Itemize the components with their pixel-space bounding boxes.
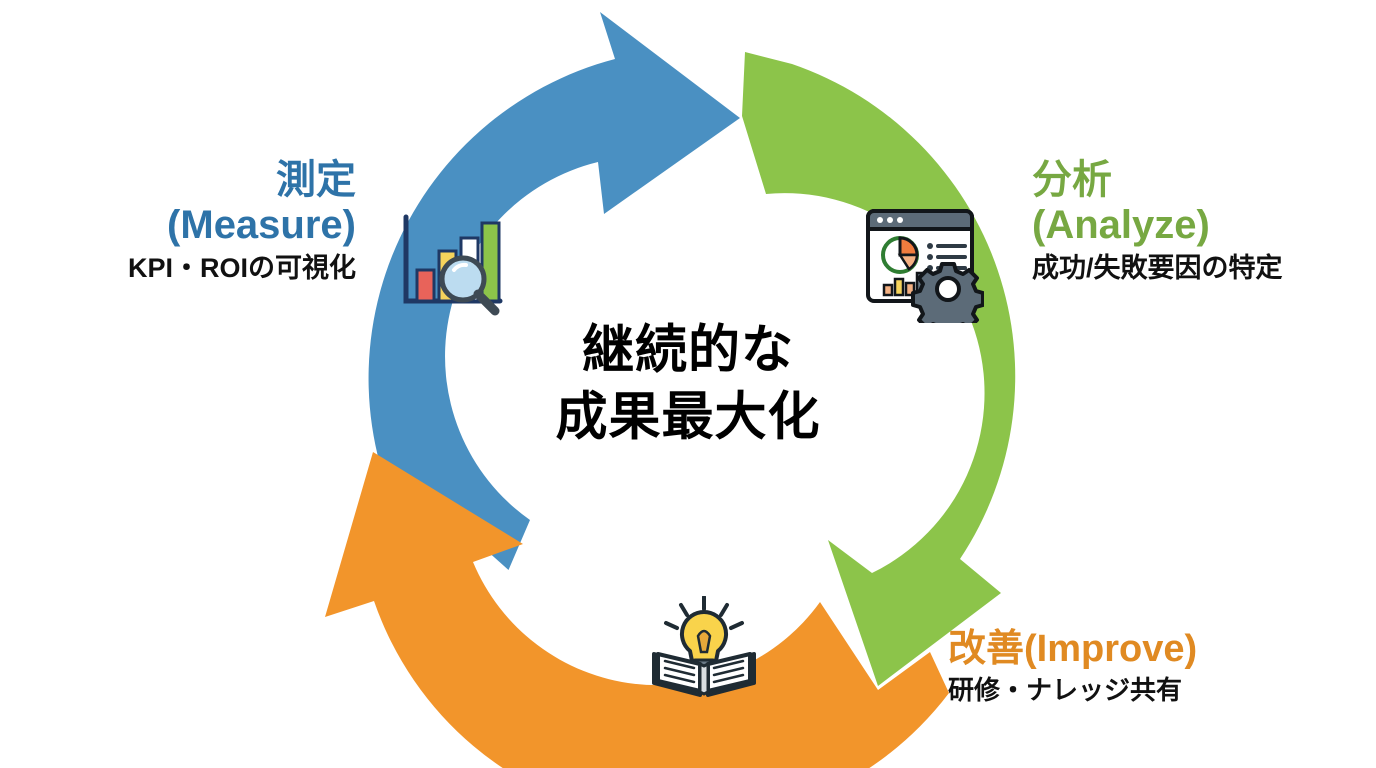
bar-chart-magnifier-icon: [396, 213, 506, 317]
label-analyze-subtitle: 成功/失敗要因の特定: [1032, 252, 1352, 284]
label-analyze-title-jp: 分析: [1032, 158, 1352, 203]
diagram-canvas: 継続的な 成果最大化: [0, 0, 1376, 768]
center-label: 継続的な 成果最大化: [508, 317, 868, 450]
label-improve: 改善(Improve) 研修・ナレッジ共有: [948, 628, 1348, 706]
label-improve-subtitle: 研修・ナレッジ共有: [948, 675, 1348, 706]
label-analyze: 分析 (Analyze) 成功/失敗要因の特定: [1032, 158, 1352, 284]
label-measure-title-jp: 測定: [78, 158, 356, 203]
center-label-line1: 継続的な: [508, 317, 868, 384]
label-measure-subtitle: KPI・ROIの可視化: [78, 252, 356, 284]
lightbulb-book-icon: [648, 596, 760, 700]
center-label-line2: 成果最大化: [508, 384, 868, 451]
dashboard-gear-icon: [864, 205, 984, 323]
label-improve-title-jp: 改善(Improve): [948, 628, 1348, 671]
label-analyze-title-en: (Analyze): [1032, 203, 1352, 248]
label-measure-title-en: (Measure): [78, 203, 356, 248]
label-measure: 測定 (Measure) KPI・ROIの可視化: [78, 158, 356, 284]
